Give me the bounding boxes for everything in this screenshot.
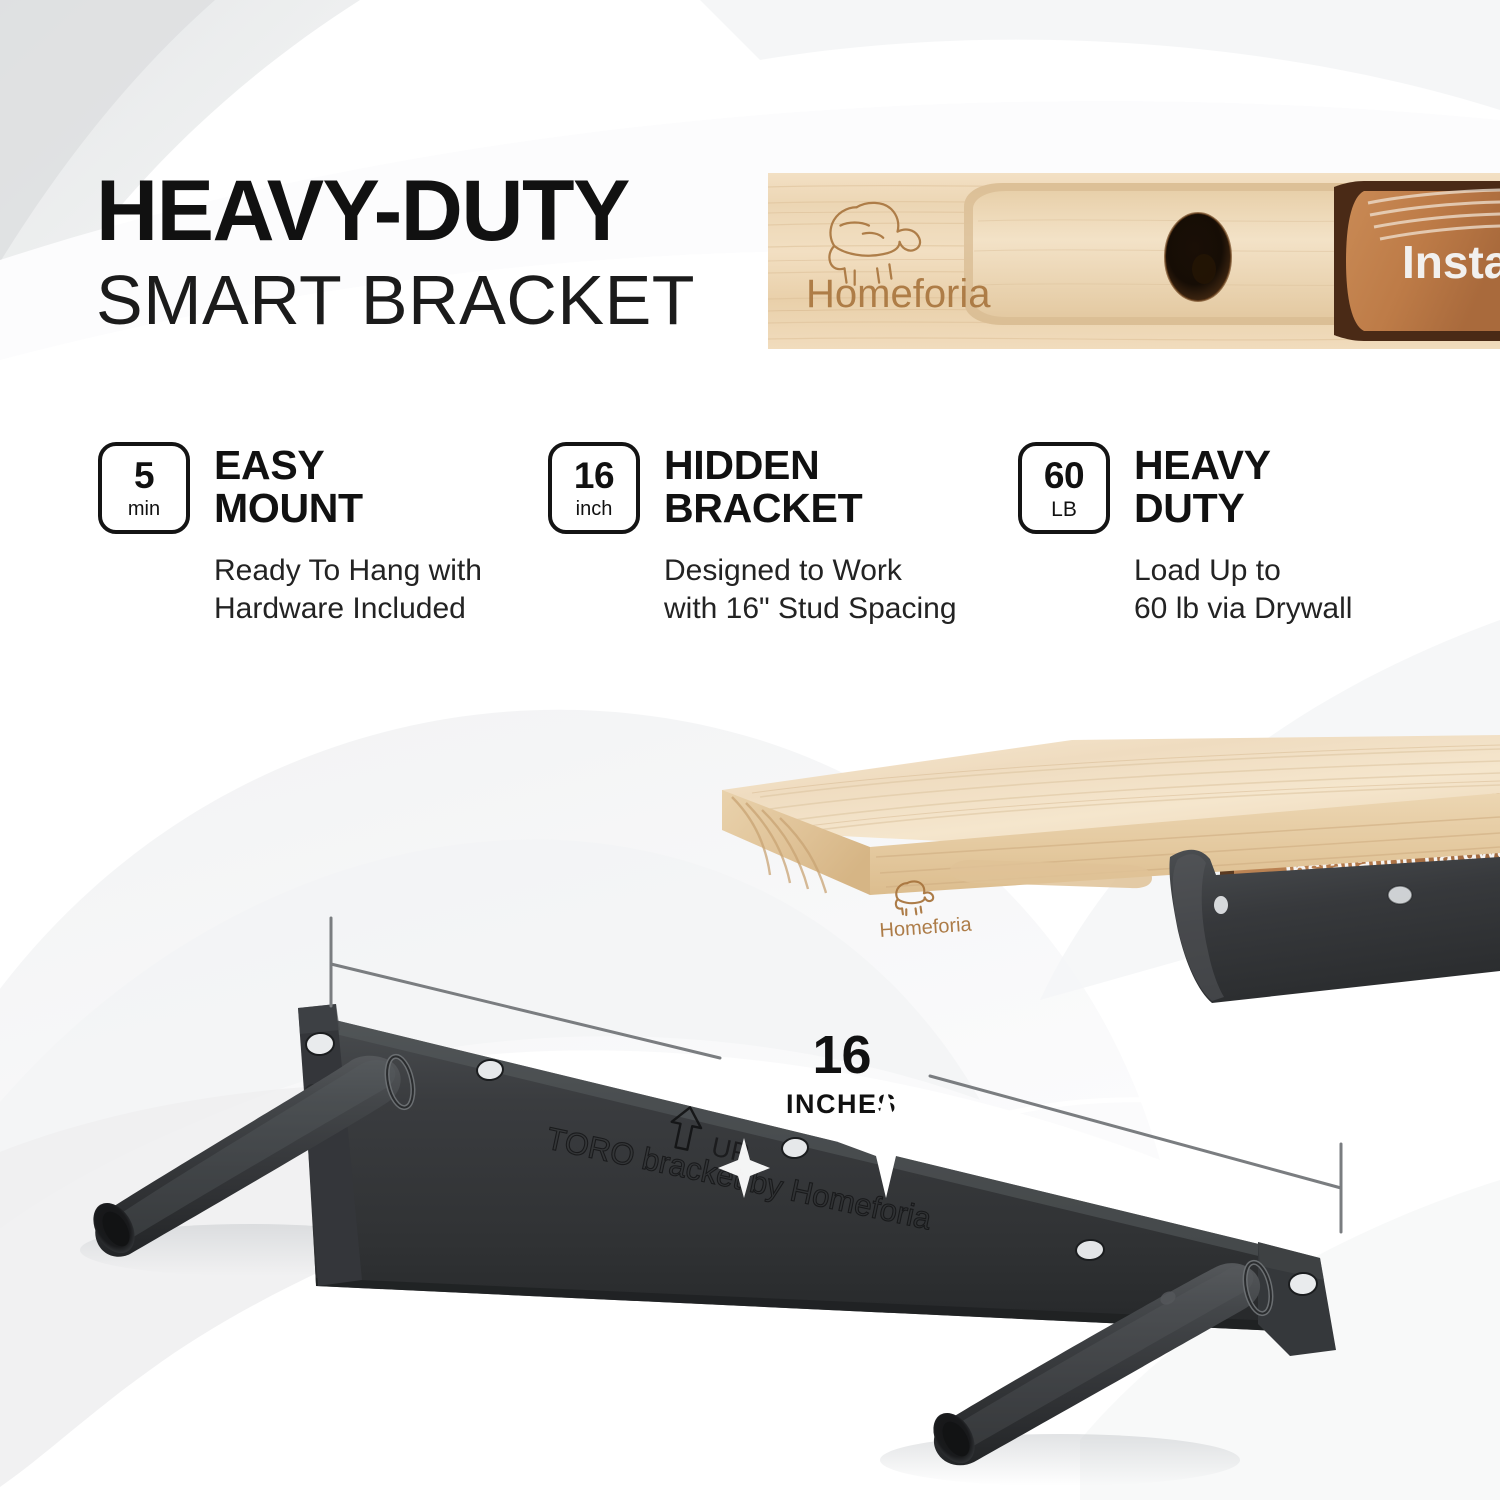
badge-60-lb-icon: 60 LB <box>1018 442 1110 534</box>
dimension-line-left <box>331 918 720 1058</box>
hardware-card-text: Installa <box>1402 236 1500 288</box>
feature-title: EASY MOUNT <box>214 442 363 531</box>
feature-title-line-2: DUTY <box>1134 487 1271 530</box>
badge-unit: inch <box>576 499 613 519</box>
infographic-canvas: HEAVY-DUTY SMART BRACKET <box>0 0 1500 1500</box>
dimension-line-right <box>930 1076 1341 1232</box>
feature-desc-line-2: with 16" Stud Spacing <box>664 590 968 628</box>
feature-title-line-2: BRACKET <box>664 487 862 530</box>
feature-easy-mount: 5 min EASY MOUNT Ready To Hang with Hard… <box>98 442 518 628</box>
feature-description: Designed to Work with 16" Stud Spacing <box>664 552 968 628</box>
feature-description: Load Up to 60 lb via Drywall <box>1134 552 1438 628</box>
feature-desc-line-1: Ready To Hang with <box>214 552 518 590</box>
feature-heavy-duty: 60 LB HEAVY DUTY Load Up to 60 lb via Dr… <box>1018 442 1438 628</box>
feature-description: Ready To Hang with Hardware Included <box>214 552 518 628</box>
title-line-1: HEAVY-DUTY <box>96 172 776 251</box>
feature-title-line-1: HEAVY <box>1134 444 1271 487</box>
shelf-underside-photo: Installa Homeforia <box>768 173 1500 349</box>
badge-value: 5 <box>134 457 154 494</box>
badge-unit: min <box>128 499 160 519</box>
feature-title-line-2: MOUNT <box>214 487 363 530</box>
badge-unit: LB <box>1051 499 1077 520</box>
feature-title-line-1: EASY <box>214 444 363 487</box>
feature-title-line-1: HIDDEN <box>664 444 862 487</box>
feature-desc-line-1: Designed to Work <box>664 552 968 590</box>
badge-5-min-icon: 5 min <box>98 442 190 534</box>
feature-title: HIDDEN BRACKET <box>664 442 862 531</box>
badge-value: 16 <box>574 457 614 494</box>
feature-hidden-bracket: 16 inch HIDDEN BRACKET Designed to Work … <box>548 442 968 628</box>
brand-engraving-text-top: Homeforia <box>806 272 991 316</box>
feature-desc-line-2: 60 lb via Drywall <box>1134 590 1438 628</box>
bracket-hero-illustration: UP TORO bracket by Homeforia <box>0 880 1420 1500</box>
feature-title: HEAVY DUTY <box>1134 442 1271 531</box>
feature-desc-line-1: Load Up to <box>1134 552 1438 590</box>
badge-value: 60 <box>1044 457 1084 494</box>
title-line-2: SMART BRACKET <box>96 265 776 335</box>
feature-list: 5 min EASY MOUNT Ready To Hang with Hard… <box>98 442 1428 652</box>
page-title: HEAVY-DUTY SMART BRACKET <box>96 172 776 335</box>
feature-desc-line-2: Hardware Included <box>214 590 518 628</box>
badge-16-inch-icon: 16 inch <box>548 442 640 534</box>
